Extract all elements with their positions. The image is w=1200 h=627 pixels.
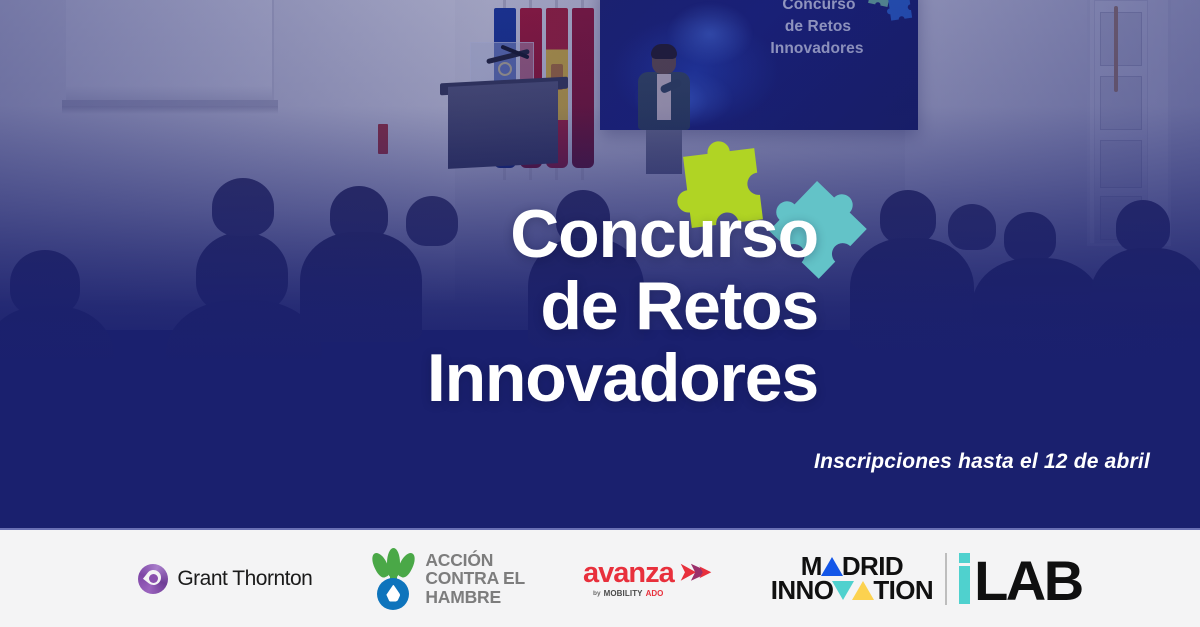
acf-label-line2: CONTRA EL <box>425 569 525 588</box>
logo-avanza[interactable]: avanza by MOBILITY ADO <box>583 559 713 598</box>
logo-divider <box>945 553 947 605</box>
page-title-line3: Innovadores <box>118 342 818 414</box>
triangle-yellow-icon <box>852 581 874 600</box>
avanza-label: avanza <box>583 559 674 588</box>
innovation-suffix: TION <box>873 579 933 603</box>
ilab-wordmark: LAB <box>959 553 1082 604</box>
sponsor-logo-bar: Grant Thornton ACCIÓN CONTRA EL HAMBRE a… <box>0 530 1200 627</box>
avanza-sub-by: by <box>593 590 601 597</box>
avanza-chevron-arrow-icon <box>679 561 713 587</box>
innovation-row: INNO TION <box>771 579 933 603</box>
logo-accion-contra-el-hambre[interactable]: ACCIÓN CONTRA EL HAMBRE <box>370 548 525 610</box>
triangle-blue-icon <box>821 557 843 576</box>
acf-label-line3: HAMBRE <box>425 588 525 607</box>
page-title-line1: Concurso <box>118 198 818 270</box>
logo-grant-thornton[interactable]: Grant Thornton <box>138 564 312 594</box>
registration-deadline: Inscripciones hasta el 12 de abril <box>814 450 1150 474</box>
avanza-subtitle: by MOBILITY ADO <box>583 589 663 598</box>
innovation-prefix: INNO <box>771 579 834 603</box>
grant-thornton-label: Grant Thornton <box>177 567 312 591</box>
avanza-sub-mobility: MOBILITY <box>604 589 643 598</box>
hero-section: Concurso de Retos Innovadores <box>0 0 1200 530</box>
ilab-i-stem <box>959 566 970 604</box>
avanza-wordmark-row: avanza <box>583 559 713 588</box>
madrid-innovation-wordmark: M DRID INNO TION <box>771 555 933 603</box>
page-title-line2: de Retos <box>118 270 818 342</box>
ilab-i-letter <box>959 553 970 604</box>
grant-thornton-swirl-icon <box>138 564 168 594</box>
promo-banner: Concurso de Retos Innovadores <box>0 0 1200 627</box>
acf-label-line1: ACCIÓN <box>425 551 525 570</box>
triangle-teal-icon <box>832 581 854 600</box>
ilab-label: LAB <box>974 558 1082 604</box>
acf-water-drop-icon <box>377 578 409 610</box>
page-title: Concurso de Retos Innovadores <box>118 198 818 414</box>
logo-madrid-innovation-ilab[interactable]: M DRID INNO TION LAB <box>771 553 1082 605</box>
avanza-sub-ado: ADO <box>646 589 664 598</box>
acf-plant-drop-icon <box>370 548 416 610</box>
ilab-i-dot <box>959 553 970 563</box>
acf-label: ACCIÓN CONTRA EL HAMBRE <box>425 551 525 607</box>
